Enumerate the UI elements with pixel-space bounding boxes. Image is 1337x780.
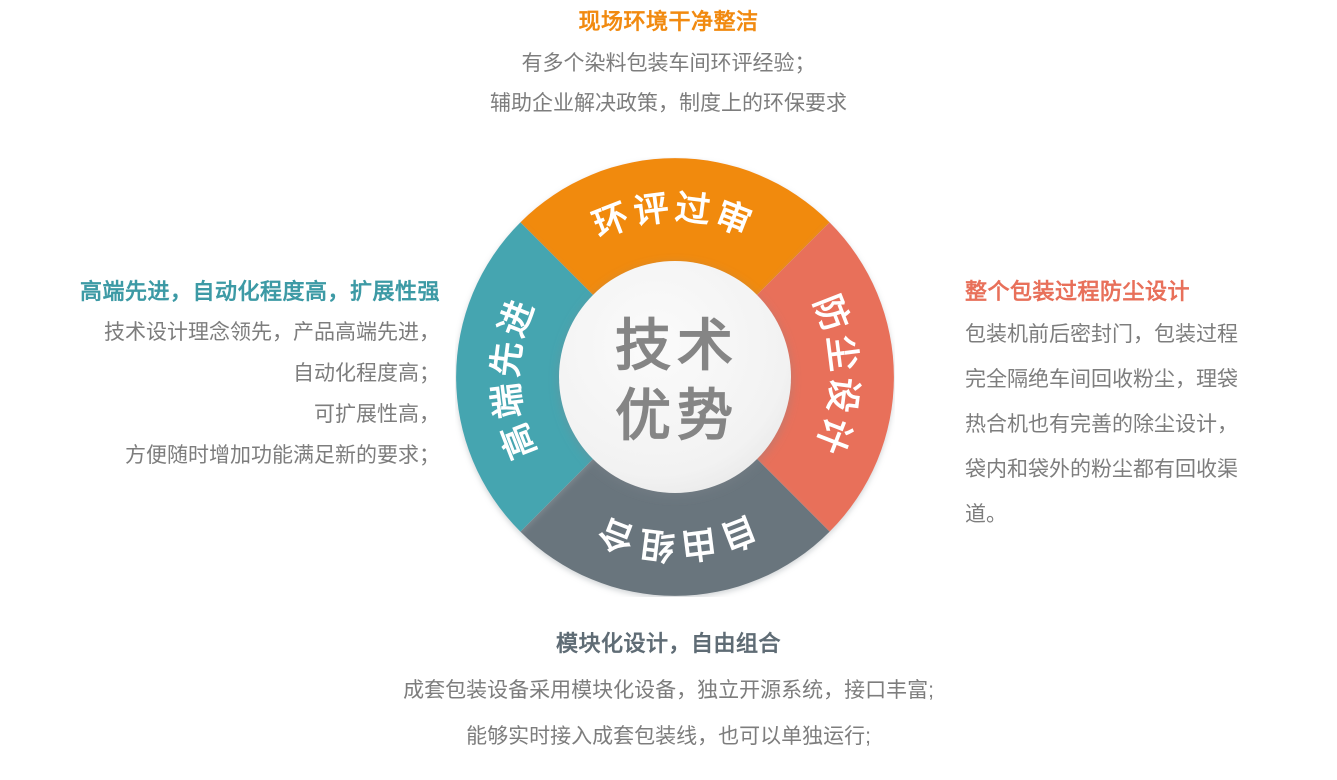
left-line-3: 可扩展性高，	[0, 394, 440, 435]
left-heading: 高端先进，自动化程度高，扩展性强	[0, 278, 440, 306]
right-line-1: 包装机前后密封门，包装过程	[965, 312, 1337, 357]
left-line-4: 方便随时增加功能满足新的要求；	[0, 435, 440, 476]
hub-line-1: 技术	[615, 314, 739, 377]
right-line-2: 完全隔绝车间回收粉尘，理袋	[965, 357, 1337, 402]
bottom-heading: 模块化设计，自由组合	[0, 630, 1337, 658]
bottom-line-2: 能够实时接入成套包装线，也可以单独运行;	[0, 714, 1337, 760]
top-heading: 现场环境干净整洁	[0, 8, 1337, 36]
left-line-1: 技术设计理念领先，产品高端先进，	[0, 312, 440, 353]
text-block-left: 高端先进，自动化程度高，扩展性强 技术设计理念领先，产品高端先进， 自动化程度高…	[0, 278, 440, 476]
text-block-right: 整个包装过程防尘设计 包装机前后密封门，包装过程 完全隔绝车间回收粉尘，理袋 热…	[965, 278, 1337, 537]
bottom-line-1: 成套包装设备采用模块化设备，独立开源系统，接口丰富;	[0, 668, 1337, 714]
left-line-2: 自动化程度高；	[0, 353, 440, 394]
donut-wheel: 环评过审 防尘设计 自由组合 高端先进	[455, 157, 895, 597]
right-line-3: 热合机也有完善的除尘设计，	[965, 402, 1337, 447]
right-heading: 整个包装过程防尘设计	[965, 278, 1337, 306]
top-line-1: 有多个染料包装车间环评经验；	[0, 44, 1337, 84]
hub-line-2: 优势	[615, 384, 739, 447]
right-line-4: 袋内和袋外的粉尘都有回收渠	[965, 447, 1337, 492]
infographic-canvas: 现场环境干净整洁 有多个染料包装车间环评经验； 辅助企业解决政策，制度上的环保要…	[0, 0, 1337, 780]
right-line-5: 道。	[965, 492, 1337, 537]
top-line-2: 辅助企业解决政策，制度上的环保要求	[0, 84, 1337, 124]
text-block-bottom: 模块化设计，自由组合 成套包装设备采用模块化设备，独立开源系统，接口丰富; 能够…	[0, 630, 1337, 760]
text-block-top: 现场环境干净整洁 有多个染料包装车间环评经验； 辅助企业解决政策，制度上的环保要…	[0, 8, 1337, 124]
wheel-hub[interactable]: 技术 优势	[559, 261, 791, 493]
